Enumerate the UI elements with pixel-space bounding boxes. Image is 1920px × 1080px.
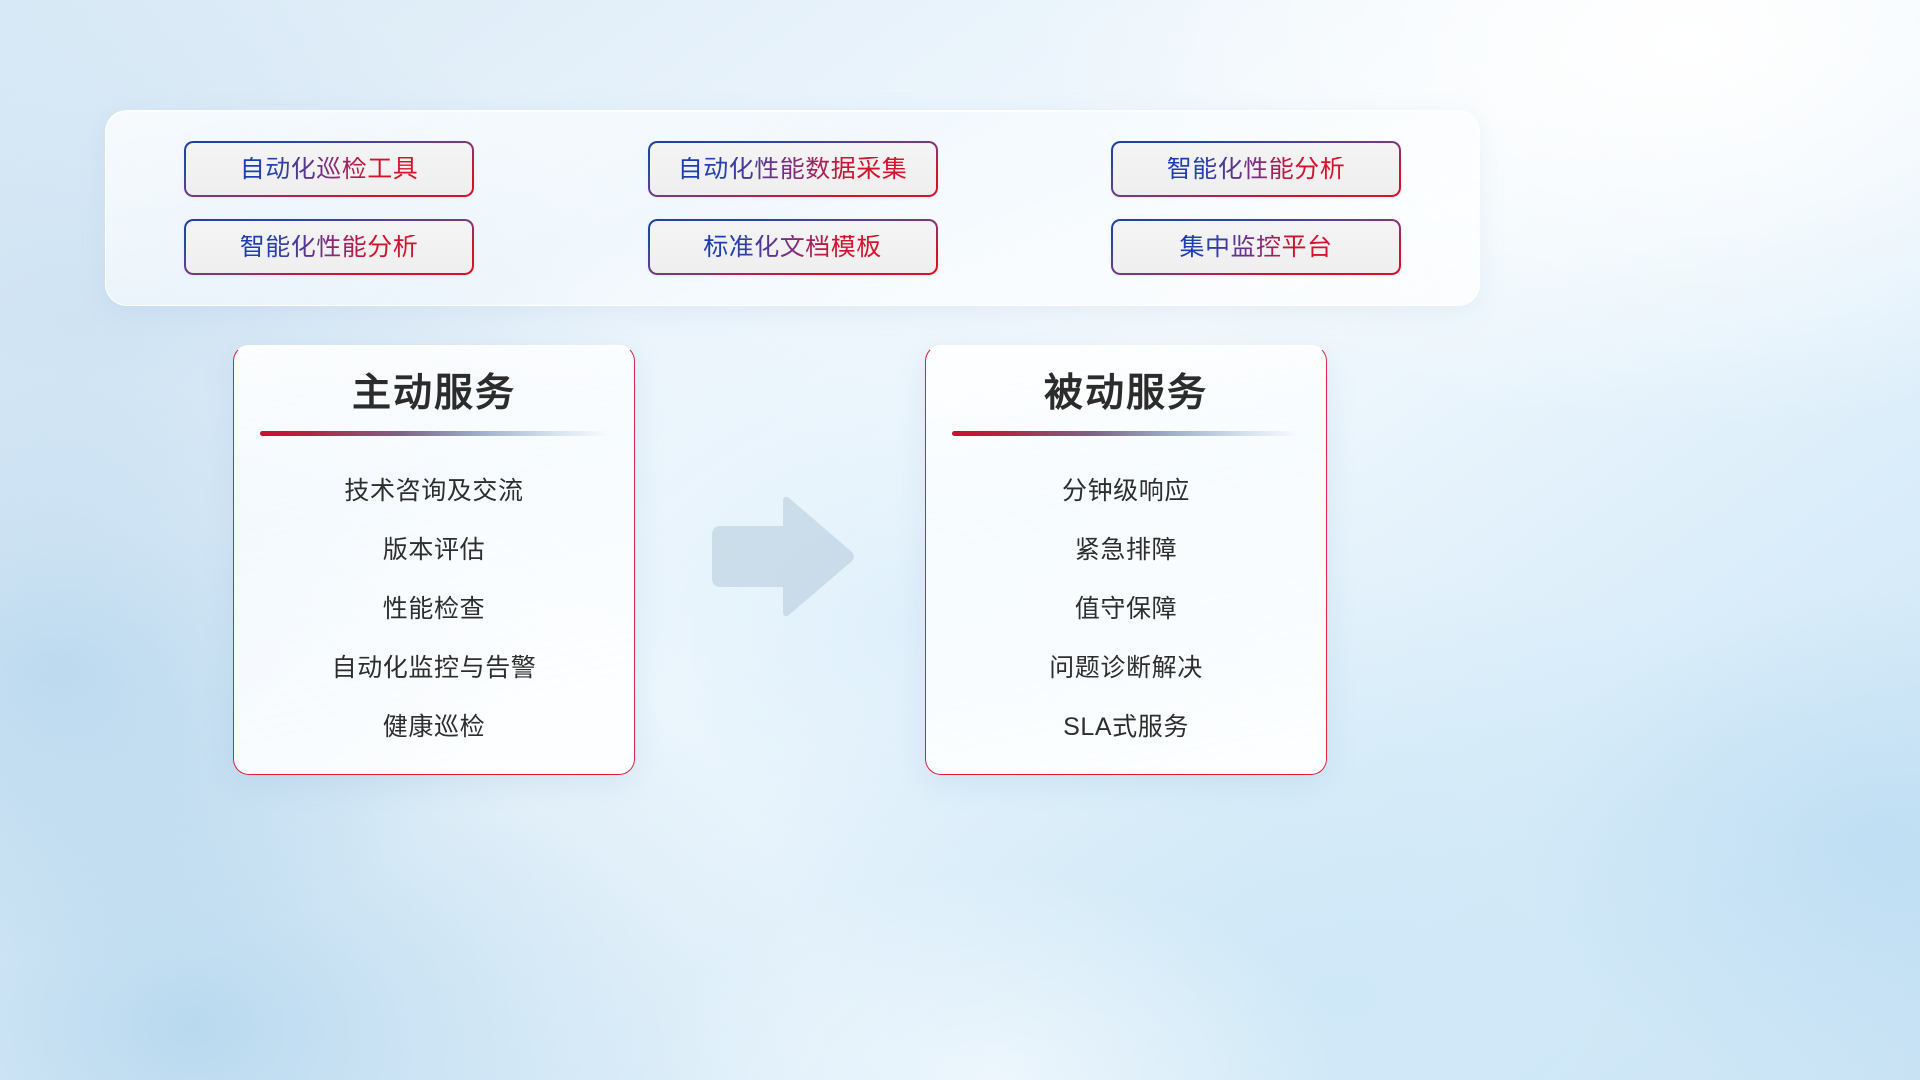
capability-chip-label: 标准化文档模板 xyxy=(703,235,882,260)
list-item: 值守保障 xyxy=(1075,580,1177,639)
card-title: 被动服务 xyxy=(1044,373,1208,416)
capability-chip-intelligent-performance-analysis-top[interactable]: 智能化性能分析 xyxy=(1111,141,1401,197)
card-divider xyxy=(952,431,1300,436)
capability-chip-automated-inspection-tool[interactable]: 自动化巡检工具 xyxy=(184,141,474,197)
card-title: 主动服务 xyxy=(352,373,516,416)
capability-chip-label: 自动化巡检工具 xyxy=(240,157,419,182)
list-item: 分钟级响应 xyxy=(1062,462,1190,521)
capability-chip-automated-performance-data-collection[interactable]: 自动化性能数据采集 xyxy=(648,141,938,197)
capability-chip-standardized-document-template[interactable]: 标准化文档模板 xyxy=(648,219,938,275)
capability-panel: 自动化巡检工具 自动化性能数据采集 智能化性能分析 智能化性能分析 标准化文档模… xyxy=(105,110,1480,306)
list-item: 版本评估 xyxy=(383,521,485,580)
capability-row-1: 自动化巡检工具 自动化性能数据采集 智能化性能分析 xyxy=(184,141,1401,197)
list-item: SLA式服务 xyxy=(1063,698,1189,757)
list-item: 性能检查 xyxy=(383,580,485,639)
arrow-right-icon xyxy=(712,497,854,617)
card-item-list: 分钟级响应 紧急排障 值守保障 问题诊断解决 SLA式服务 xyxy=(926,462,1326,757)
capability-chip-label: 集中监控平台 xyxy=(1179,235,1332,260)
list-item: 紧急排障 xyxy=(1075,521,1177,580)
card-divider xyxy=(260,431,608,436)
service-card-passive: 被动服务 分钟级响应 紧急排障 值守保障 问题诊断解决 SLA式服务 xyxy=(925,345,1327,775)
capability-chip-label: 智能化性能分析 xyxy=(240,235,419,260)
capability-chip-intelligent-performance-analysis-bottom[interactable]: 智能化性能分析 xyxy=(184,219,474,275)
list-item: 健康巡检 xyxy=(383,698,485,757)
service-card-active: 主动服务 技术咨询及交流 版本评估 性能检查 自动化监控与告警 健康巡检 xyxy=(233,345,635,775)
capability-chip-label: 智能化性能分析 xyxy=(1167,157,1346,182)
capability-row-2: 智能化性能分析 标准化文档模板 集中监控平台 xyxy=(184,219,1401,275)
list-item: 问题诊断解决 xyxy=(1049,639,1203,698)
list-item: 技术咨询及交流 xyxy=(344,462,523,521)
capability-chip-label: 自动化性能数据采集 xyxy=(678,157,908,182)
capability-chip-centralized-monitoring-platform[interactable]: 集中监控平台 xyxy=(1111,219,1401,275)
list-item: 自动化监控与告警 xyxy=(332,639,537,698)
card-item-list: 技术咨询及交流 版本评估 性能检查 自动化监控与告警 健康巡检 xyxy=(234,462,634,757)
